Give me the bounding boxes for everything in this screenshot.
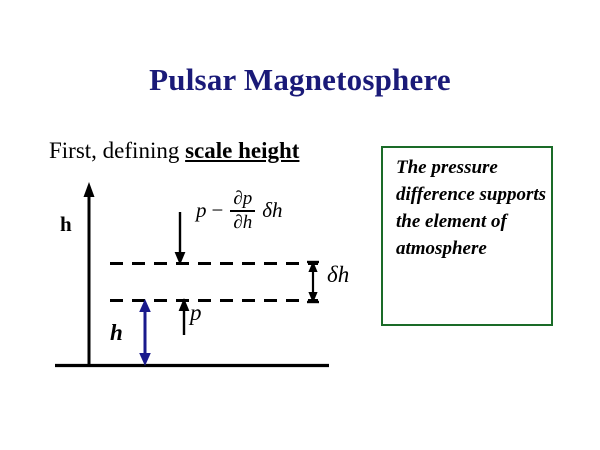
subtitle-lead-text: First, defining [49,138,185,163]
pressure-equation: p − ∂p ∂h δh [196,189,283,233]
downward-pressure-arrow [175,212,186,265]
callout-box: The pressure difference supports the ele… [381,146,553,326]
equation-operator: − [207,198,229,223]
delta-h-measure-arrow [307,261,319,303]
equation-trailing-symbol: δh [257,198,282,223]
callout-text: The pressure difference supports the ele… [396,155,548,263]
equation-lead-symbol: p [196,198,207,223]
equation-fraction-denominator: ∂h [230,212,255,233]
equation-fraction-numerator: ∂p [230,189,255,210]
subtitle-line: First, defining scale height [49,138,299,164]
height-measure-arrow [139,299,151,366]
axis-label-h: h [60,212,72,237]
delta-h-label: δh [327,262,349,288]
page-title: Pulsar Magnetosphere [0,62,600,98]
upward-pressure-arrow [179,298,190,335]
pressure-label-p: p [190,300,202,326]
equation-fraction: ∂p ∂h [230,189,255,233]
vertical-axis [84,182,95,366]
subtitle-emphasis-text: scale height [185,138,299,163]
height-label-h: h [110,320,123,346]
